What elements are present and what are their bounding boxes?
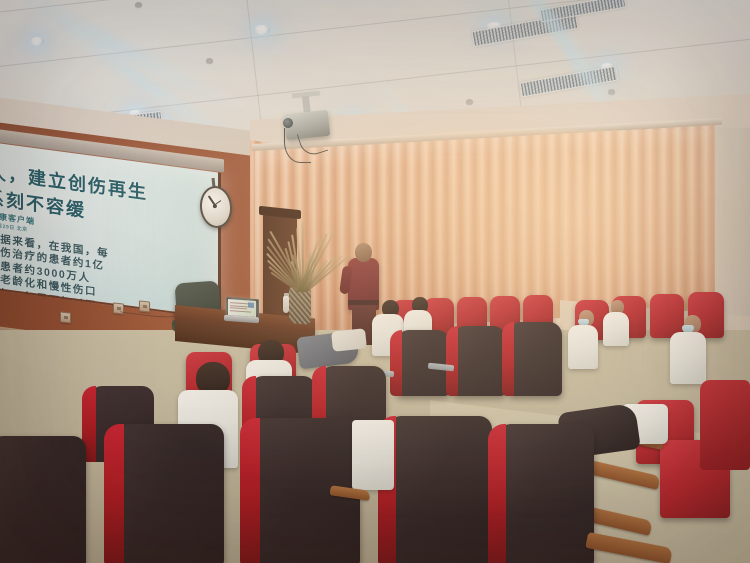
attendee-between-seats [352, 420, 394, 490]
ceiling-sprinkler-icon [608, 89, 615, 94]
laptop-screen [228, 299, 256, 317]
wall-outlet[interactable] [60, 311, 71, 323]
presenter-head [355, 243, 372, 262]
papers-on-seat[interactable] [331, 328, 367, 351]
ceiling-sprinkler-icon [466, 99, 473, 104]
ceiling-sprinkler-icon [135, 2, 142, 7]
seat[interactable] [700, 380, 750, 470]
ceiling-downlight [30, 37, 44, 46]
ceiling-sprinkler-icon [206, 58, 213, 63]
ceiling-downlight [254, 25, 270, 35]
conference-hall-photo: 亿人，建立创伤再生 体系刻不容缓 日报健康客户端 2021年10月29日 北京 … [0, 0, 750, 563]
